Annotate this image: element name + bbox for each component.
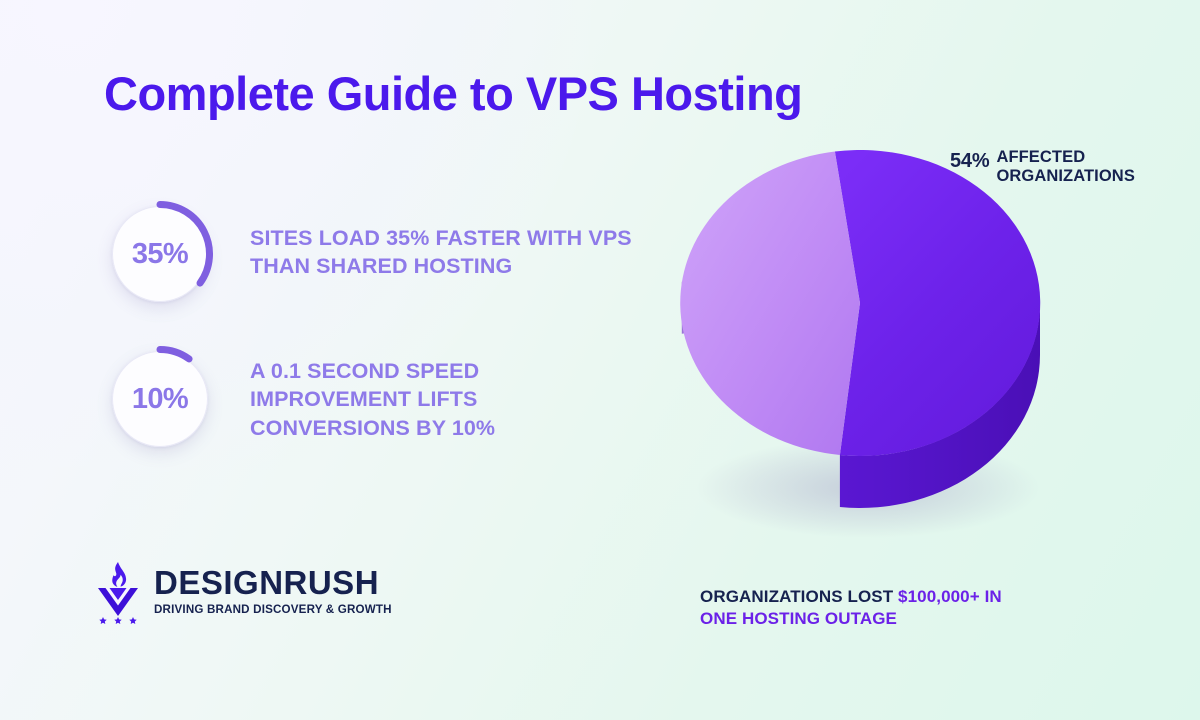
pie-chart — [672, 150, 1052, 550]
designrush-logo[interactable]: DESIGNRUSH DRIVING BRAND DISCOVERY & GRO… — [92, 560, 392, 624]
pie-caption-lead: ORGANIZATIONS LOST — [700, 587, 898, 606]
stat-item-1: 35% SITES LOAD 35% FASTER WITH VPS THAN … — [106, 200, 650, 308]
designrush-torch-icon — [92, 560, 144, 624]
pie-caption-highlight-1: $100,000+ IN — [898, 587, 1002, 606]
pie-caption-highlight-2: ONE HOSTING OUTAGE — [700, 609, 897, 628]
pie-callout-label: AFFECTED ORGANIZATIONS — [996, 148, 1135, 186]
star-glyphs — [99, 617, 136, 624]
page-title: Complete Guide to VPS Hosting — [104, 66, 802, 121]
stat-value-2: 10% — [106, 345, 214, 453]
stat-value-1: 35% — [106, 200, 214, 308]
pie-callout: 54% AFFECTED ORGANIZATIONS — [950, 148, 1135, 186]
logo-tagline: DRIVING BRAND DISCOVERY & GROWTH — [154, 604, 392, 616]
infographic-canvas: Complete Guide to VPS Hosting 35% SITES … — [0, 0, 1200, 720]
logo-name: DESIGNRUSH — [154, 566, 392, 599]
progress-ring-35: 35% — [106, 200, 214, 308]
designrush-wordmark: DESIGNRUSH DRIVING BRAND DISCOVERY & GRO… — [154, 560, 392, 616]
stat-item-2: 10% A 0.1 SECOND SPEED IMPROVEMENT LIFTS… — [106, 345, 550, 453]
pie-callout-value: 54% — [950, 148, 989, 174]
pie-callout-line2: ORGANIZATIONS — [996, 167, 1135, 186]
stat-text-1: SITES LOAD 35% FASTER WITH VPS THAN SHAR… — [250, 200, 650, 281]
pie-slice-light — [680, 152, 860, 456]
pie-callout-line1: AFFECTED — [996, 148, 1135, 167]
pie-chart-svg — [672, 150, 1052, 550]
pie-caption: ORGANIZATIONS LOST $100,000+ INONE HOSTI… — [700, 586, 1002, 630]
progress-ring-10: 10% — [106, 345, 214, 453]
stat-text-2: A 0.1 SECOND SPEED IMPROVEMENT LIFTS CON… — [250, 345, 550, 442]
